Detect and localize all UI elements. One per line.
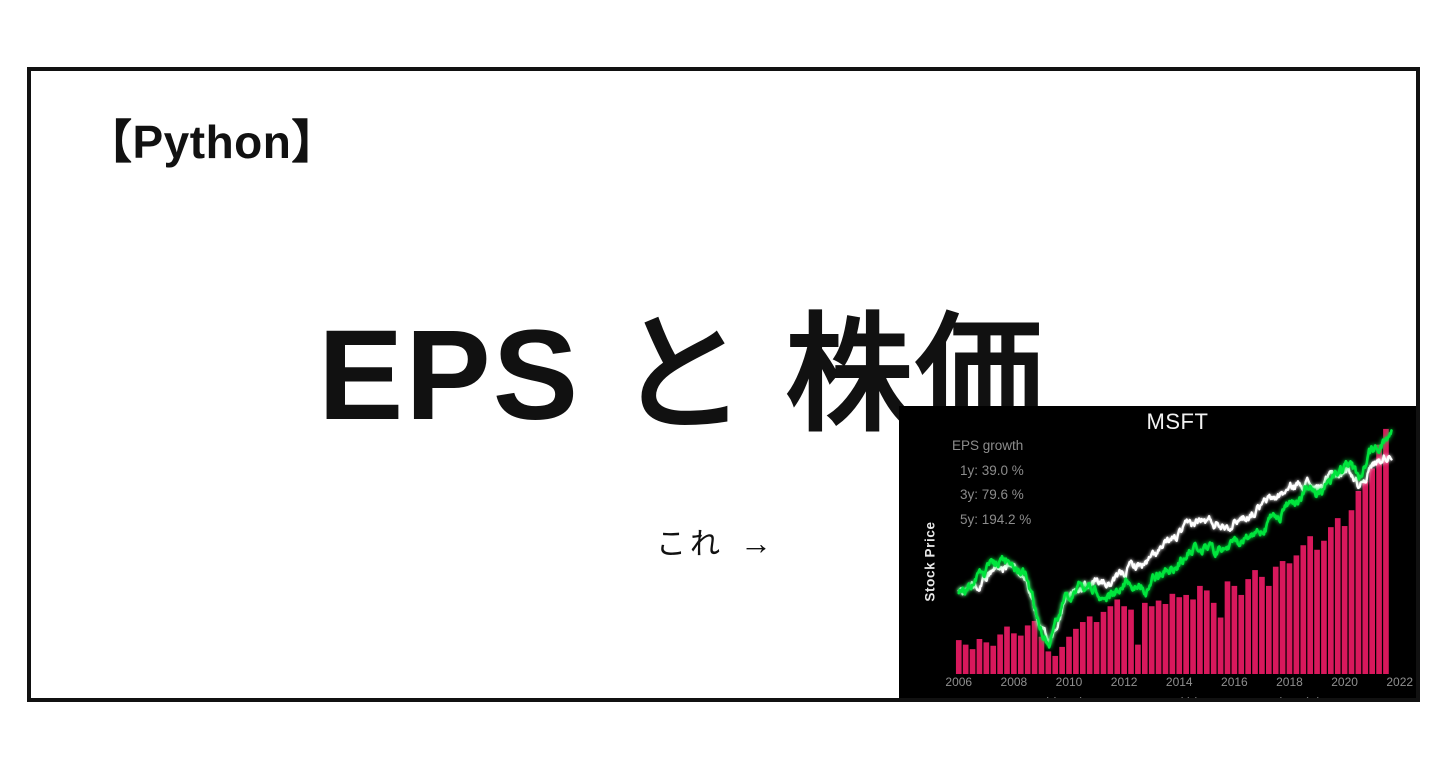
x-tick-label: 2006 — [945, 676, 972, 688]
eps-bar — [977, 639, 983, 674]
eps-bar — [1273, 567, 1279, 674]
eps-bar — [1328, 527, 1334, 674]
figure-footer-legend: White Line : NASDAQ — [1034, 695, 1165, 702]
eps-bar — [1149, 606, 1155, 674]
eps-bar — [1356, 491, 1362, 674]
eps-bar — [1287, 563, 1293, 674]
x-tick-label: 2020 — [1331, 676, 1358, 688]
eps-bar — [1197, 586, 1203, 674]
x-axis-ticks: 200620082010201220142016201820202022 — [945, 676, 1408, 692]
eps-bar — [1245, 579, 1251, 674]
eps-bar — [970, 649, 976, 674]
eps-bar — [1342, 526, 1348, 674]
eps-bar — [997, 634, 1003, 674]
y-axis-label-left: Stock Price — [923, 507, 938, 617]
eps-bar — [1335, 518, 1341, 674]
eps-bar — [1101, 612, 1107, 674]
eps-bar — [963, 645, 969, 674]
eps-bar — [1156, 601, 1162, 674]
eps-bar — [1004, 627, 1010, 674]
eps-bar — [1087, 616, 1093, 674]
eps-bar — [1018, 636, 1024, 674]
eps-bar — [1108, 606, 1114, 674]
figure-footer: White Line : NASDAQ( hippen_research Ltd… — [899, 696, 1420, 702]
eps-bar — [1321, 541, 1327, 674]
chart-plot-area — [945, 424, 1408, 674]
eps-bar-group — [956, 429, 1389, 674]
x-tick-label: 2012 — [1111, 676, 1138, 688]
eps-bar — [1190, 599, 1196, 674]
x-tick-label: 2014 — [1166, 676, 1193, 688]
pointer-note: これ→ — [656, 527, 776, 560]
eps-bar — [1211, 603, 1217, 674]
eps-bar — [956, 640, 962, 674]
eps-bar — [1204, 590, 1210, 674]
eps-bar — [1011, 633, 1017, 674]
eps-bar — [1259, 577, 1265, 674]
x-tick-label: 2022 — [1386, 676, 1413, 688]
eps-bar — [1307, 536, 1313, 674]
eps-bar — [1349, 510, 1355, 674]
eps-bar — [1314, 550, 1320, 674]
eps-bar — [1170, 594, 1176, 674]
eps-bar — [1066, 637, 1072, 674]
x-tick-label: 2008 — [1001, 676, 1028, 688]
eps-bar — [1039, 637, 1045, 674]
x-tick-label: 2018 — [1276, 676, 1303, 688]
eps-bar — [1294, 555, 1300, 674]
eps-bar — [1025, 625, 1031, 674]
eps-bar — [1369, 468, 1375, 674]
eps-bar — [984, 642, 990, 674]
pointer-note-label: これ — [656, 528, 724, 561]
eps-bar — [1059, 647, 1065, 674]
eps-bar — [990, 646, 996, 674]
eps-bar — [1073, 629, 1079, 674]
eps-bar — [1183, 595, 1189, 674]
eps-bar — [1225, 581, 1231, 674]
eps-bar — [1052, 656, 1058, 674]
eps-bar — [1376, 445, 1382, 674]
x-tick-label: 2010 — [1056, 676, 1083, 688]
eps-bar — [1232, 586, 1238, 674]
eps-bar — [1094, 622, 1100, 674]
eps-bar — [1121, 606, 1127, 674]
eps-bar — [1142, 603, 1148, 674]
eps-bar — [1128, 610, 1134, 674]
eps-bar — [1135, 645, 1141, 674]
arrow-right-icon: → — [740, 525, 776, 561]
eps-bar — [1046, 651, 1052, 674]
eps-bar — [1362, 481, 1368, 674]
eps-bar — [1218, 618, 1224, 674]
slide-frame: 【Python】 EPS と 株価 これ→ MSFT EPS growth 1y… — [27, 67, 1420, 702]
eps-bar — [1300, 545, 1306, 674]
eps-bar — [1080, 622, 1086, 674]
eps-bar — [1280, 561, 1286, 674]
msft-eps-chart-figure: MSFT EPS growth 1y: 39.0 % 3y: 79.6 % 5y… — [899, 406, 1420, 702]
figure-footer-credit: ( hippen_research Ltd. ) — [1179, 695, 1322, 702]
chart-svg — [945, 424, 1408, 674]
eps-bar — [1266, 586, 1272, 674]
eps-bar — [1176, 597, 1182, 674]
eps-bar — [1163, 604, 1169, 674]
eps-bar — [1114, 599, 1120, 674]
eps-bar — [1252, 570, 1258, 674]
x-tick-label: 2016 — [1221, 676, 1248, 688]
eps-bar — [1238, 595, 1244, 674]
page-kicker: 【Python】 — [86, 119, 338, 165]
eps-bar — [1032, 621, 1038, 674]
eps-bar — [1383, 429, 1389, 674]
